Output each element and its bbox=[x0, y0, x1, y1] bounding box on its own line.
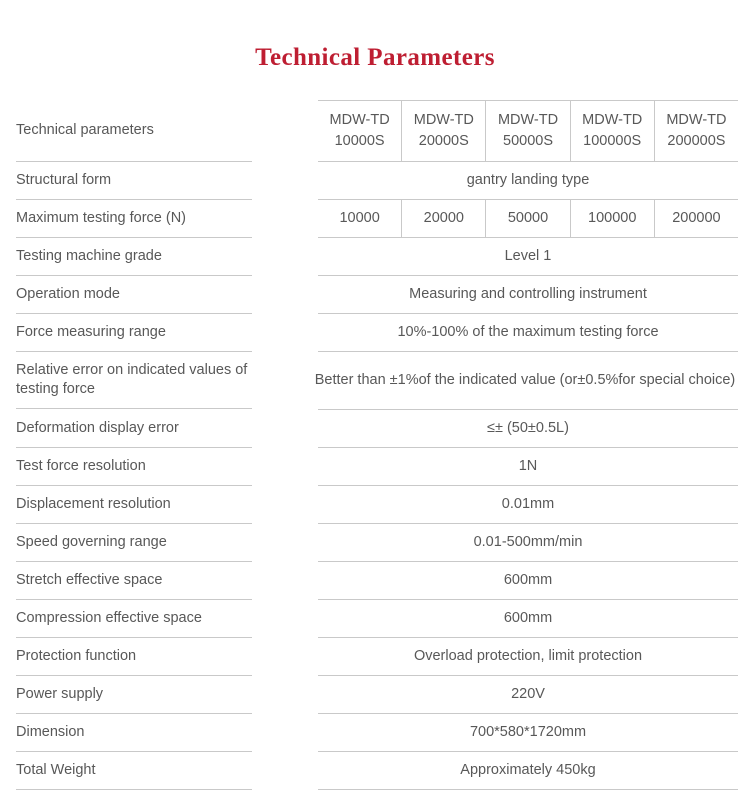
row-label-text: Force measuring range bbox=[16, 323, 166, 342]
table-row: Power supply 220V bbox=[0, 676, 750, 714]
row-value-text: 0.01mm bbox=[502, 495, 554, 514]
table-row: Compression effective space 600mm bbox=[0, 600, 750, 638]
force-value-3: 50000 bbox=[486, 200, 570, 237]
row-label-compression-effective-space: Compression effective space bbox=[0, 600, 318, 638]
row-value-text: 600mm bbox=[504, 571, 552, 590]
model-4-code: 100000S bbox=[583, 131, 641, 152]
row-label-stretch-effective-space: Stretch effective space bbox=[0, 562, 318, 600]
model-column-2: MDW-TD 20000S bbox=[402, 101, 486, 161]
force-value-1: 10000 bbox=[318, 200, 402, 237]
row-value-structural-form: gantry landing type bbox=[318, 162, 750, 200]
row-label-displacement-resolution: Displacement resolution bbox=[0, 486, 318, 524]
row-label-text: Relative error on indicated values of te… bbox=[16, 361, 252, 399]
table-row: Maximum testing force (N) 10000 20000 50… bbox=[0, 200, 750, 238]
row-value-text: Better than ±1%of the indicated value (o… bbox=[315, 371, 736, 390]
table-row: Force measuring range 10%-100% of the ma… bbox=[0, 314, 750, 352]
row-label-speed-governing-range: Speed governing range bbox=[0, 524, 318, 562]
row-value-total-weight: Approximately 450kg bbox=[318, 752, 750, 790]
row-label-text: Deformation display error bbox=[16, 419, 179, 438]
model-5-series: MDW-TD bbox=[666, 110, 726, 131]
force-value-2: 20000 bbox=[402, 200, 486, 237]
row-label-text: Stretch effective space bbox=[16, 571, 162, 590]
row-label-text: Dimension bbox=[16, 723, 85, 742]
model-1-code: 10000S bbox=[335, 131, 385, 152]
row-value-power-supply: 220V bbox=[318, 676, 750, 714]
row-label-text: Test force resolution bbox=[16, 457, 146, 476]
row-value-operation-mode: Measuring and controlling instrument bbox=[318, 276, 750, 314]
model-column-1: MDW-TD 10000S bbox=[318, 101, 402, 161]
row-value-testing-machine-grade: Level 1 bbox=[318, 238, 750, 276]
table-row: Total Weight Approximately 450kg bbox=[0, 752, 750, 790]
row-value-text: ≤± (50±0.5L) bbox=[487, 419, 569, 438]
row-value-maximum-testing-force: 10000 20000 50000 100000 200000 bbox=[318, 200, 750, 238]
force-value-columns: 10000 20000 50000 100000 200000 bbox=[318, 200, 738, 238]
row-value-relative-error: Better than ±1%of the indicated value (o… bbox=[300, 352, 750, 409]
row-label-text: Displacement resolution bbox=[16, 495, 171, 514]
row-value-text: gantry landing type bbox=[467, 171, 590, 190]
row-value-protection-function: Overload protection, limit protection bbox=[318, 638, 750, 676]
row-label-operation-mode: Operation mode bbox=[0, 276, 318, 314]
row-label-testing-machine-grade: Testing machine grade bbox=[0, 238, 318, 276]
row-value-dimension: 700*580*1720mm bbox=[318, 714, 750, 752]
row-label-force-measuring-range: Force measuring range bbox=[0, 314, 318, 352]
row-label-text: Protection function bbox=[16, 647, 136, 666]
row-label-dimension: Dimension bbox=[0, 714, 318, 752]
row-label-power-supply: Power supply bbox=[0, 676, 318, 714]
header-label-cell: Technical parameters bbox=[0, 100, 318, 162]
row-value-text: 0.01-500mm/min bbox=[474, 533, 583, 552]
row-label-maximum-testing-force: Maximum testing force (N) bbox=[0, 200, 318, 238]
table-row: Stretch effective space 600mm bbox=[0, 562, 750, 600]
table-header-row: Technical parameters MDW-TD 10000S MDW-T… bbox=[0, 100, 750, 162]
table-row: Test force resolution 1N bbox=[0, 448, 750, 486]
row-value-speed-governing-range: 0.01-500mm/min bbox=[318, 524, 750, 562]
row-value-text: 220V bbox=[511, 685, 545, 704]
row-value-text: 700*580*1720mm bbox=[470, 723, 586, 742]
model-4-series: MDW-TD bbox=[582, 110, 642, 131]
table-row: Deformation display error ≤± (50±0.5L) bbox=[0, 409, 750, 448]
row-value-text: Measuring and controlling instrument bbox=[409, 285, 647, 304]
row-label-text: Total Weight bbox=[16, 761, 96, 780]
row-value-force-measuring-range: 10%-100% of the maximum testing force bbox=[318, 314, 750, 352]
row-value-stretch-effective-space: 600mm bbox=[318, 562, 750, 600]
model-5-code: 200000S bbox=[667, 131, 725, 152]
model-column-3: MDW-TD 50000S bbox=[486, 101, 570, 161]
model-column-4: MDW-TD 100000S bbox=[571, 101, 655, 161]
row-label-deformation-display-error: Deformation display error bbox=[0, 409, 318, 448]
row-value-text: 10%-100% of the maximum testing force bbox=[397, 323, 658, 342]
row-label-text: Structural form bbox=[16, 171, 111, 190]
row-label-protection-function: Protection function bbox=[0, 638, 318, 676]
row-label-structural-form: Structural form bbox=[0, 162, 318, 200]
header-label-text: Technical parameters bbox=[16, 121, 154, 140]
technical-parameters-page: Technical Parameters Technical parameter… bbox=[0, 0, 750, 693]
model-2-series: MDW-TD bbox=[414, 110, 474, 131]
row-label-text: Power supply bbox=[16, 685, 103, 704]
table-row: Speed governing range 0.01-500mm/min bbox=[0, 524, 750, 562]
row-value-text: Level 1 bbox=[505, 247, 552, 266]
row-label-text: Maximum testing force (N) bbox=[16, 209, 186, 228]
table-row: Testing machine grade Level 1 bbox=[0, 238, 750, 276]
row-label-text: Speed governing range bbox=[16, 533, 167, 552]
row-label-relative-error: Relative error on indicated values of te… bbox=[0, 352, 309, 409]
row-label-text: Compression effective space bbox=[16, 609, 202, 628]
row-value-deformation-display-error: ≤± (50±0.5L) bbox=[318, 409, 750, 448]
row-value-text: 1N bbox=[519, 457, 538, 476]
model-1-series: MDW-TD bbox=[330, 110, 390, 131]
table-row: Operation mode Measuring and controlling… bbox=[0, 276, 750, 314]
model-column-5: MDW-TD 200000S bbox=[655, 101, 738, 161]
force-value-4: 100000 bbox=[571, 200, 655, 237]
row-label-text: Testing machine grade bbox=[16, 247, 162, 266]
force-value-5: 200000 bbox=[655, 200, 738, 237]
row-value-displacement-resolution: 0.01mm bbox=[318, 486, 750, 524]
table-row: Structural form gantry landing type bbox=[0, 162, 750, 200]
row-label-test-force-resolution: Test force resolution bbox=[0, 448, 318, 486]
table-row: Relative error on indicated values of te… bbox=[0, 352, 750, 409]
model-2-code: 20000S bbox=[419, 131, 469, 152]
row-value-text: 600mm bbox=[504, 609, 552, 628]
row-value-compression-effective-space: 600mm bbox=[318, 600, 750, 638]
row-value-text: Overload protection, limit protection bbox=[414, 647, 642, 666]
row-label-text: Operation mode bbox=[16, 285, 120, 304]
model-columns-cell: MDW-TD 10000S MDW-TD 20000S MDW-TD 50000… bbox=[318, 100, 750, 162]
table-row: Protection function Overload protection,… bbox=[0, 638, 750, 676]
specifications-table: Technical parameters MDW-TD 10000S MDW-T… bbox=[0, 100, 750, 790]
row-value-test-force-resolution: 1N bbox=[318, 448, 750, 486]
model-3-series: MDW-TD bbox=[498, 110, 558, 131]
table-row: Dimension 700*580*1720mm bbox=[0, 714, 750, 752]
page-title: Technical Parameters bbox=[0, 44, 750, 72]
model-columns: MDW-TD 10000S MDW-TD 20000S MDW-TD 50000… bbox=[318, 100, 738, 162]
row-value-text: Approximately 450kg bbox=[460, 761, 595, 780]
row-label-total-weight: Total Weight bbox=[0, 752, 318, 790]
model-3-code: 50000S bbox=[503, 131, 553, 152]
table-row: Displacement resolution 0.01mm bbox=[0, 486, 750, 524]
